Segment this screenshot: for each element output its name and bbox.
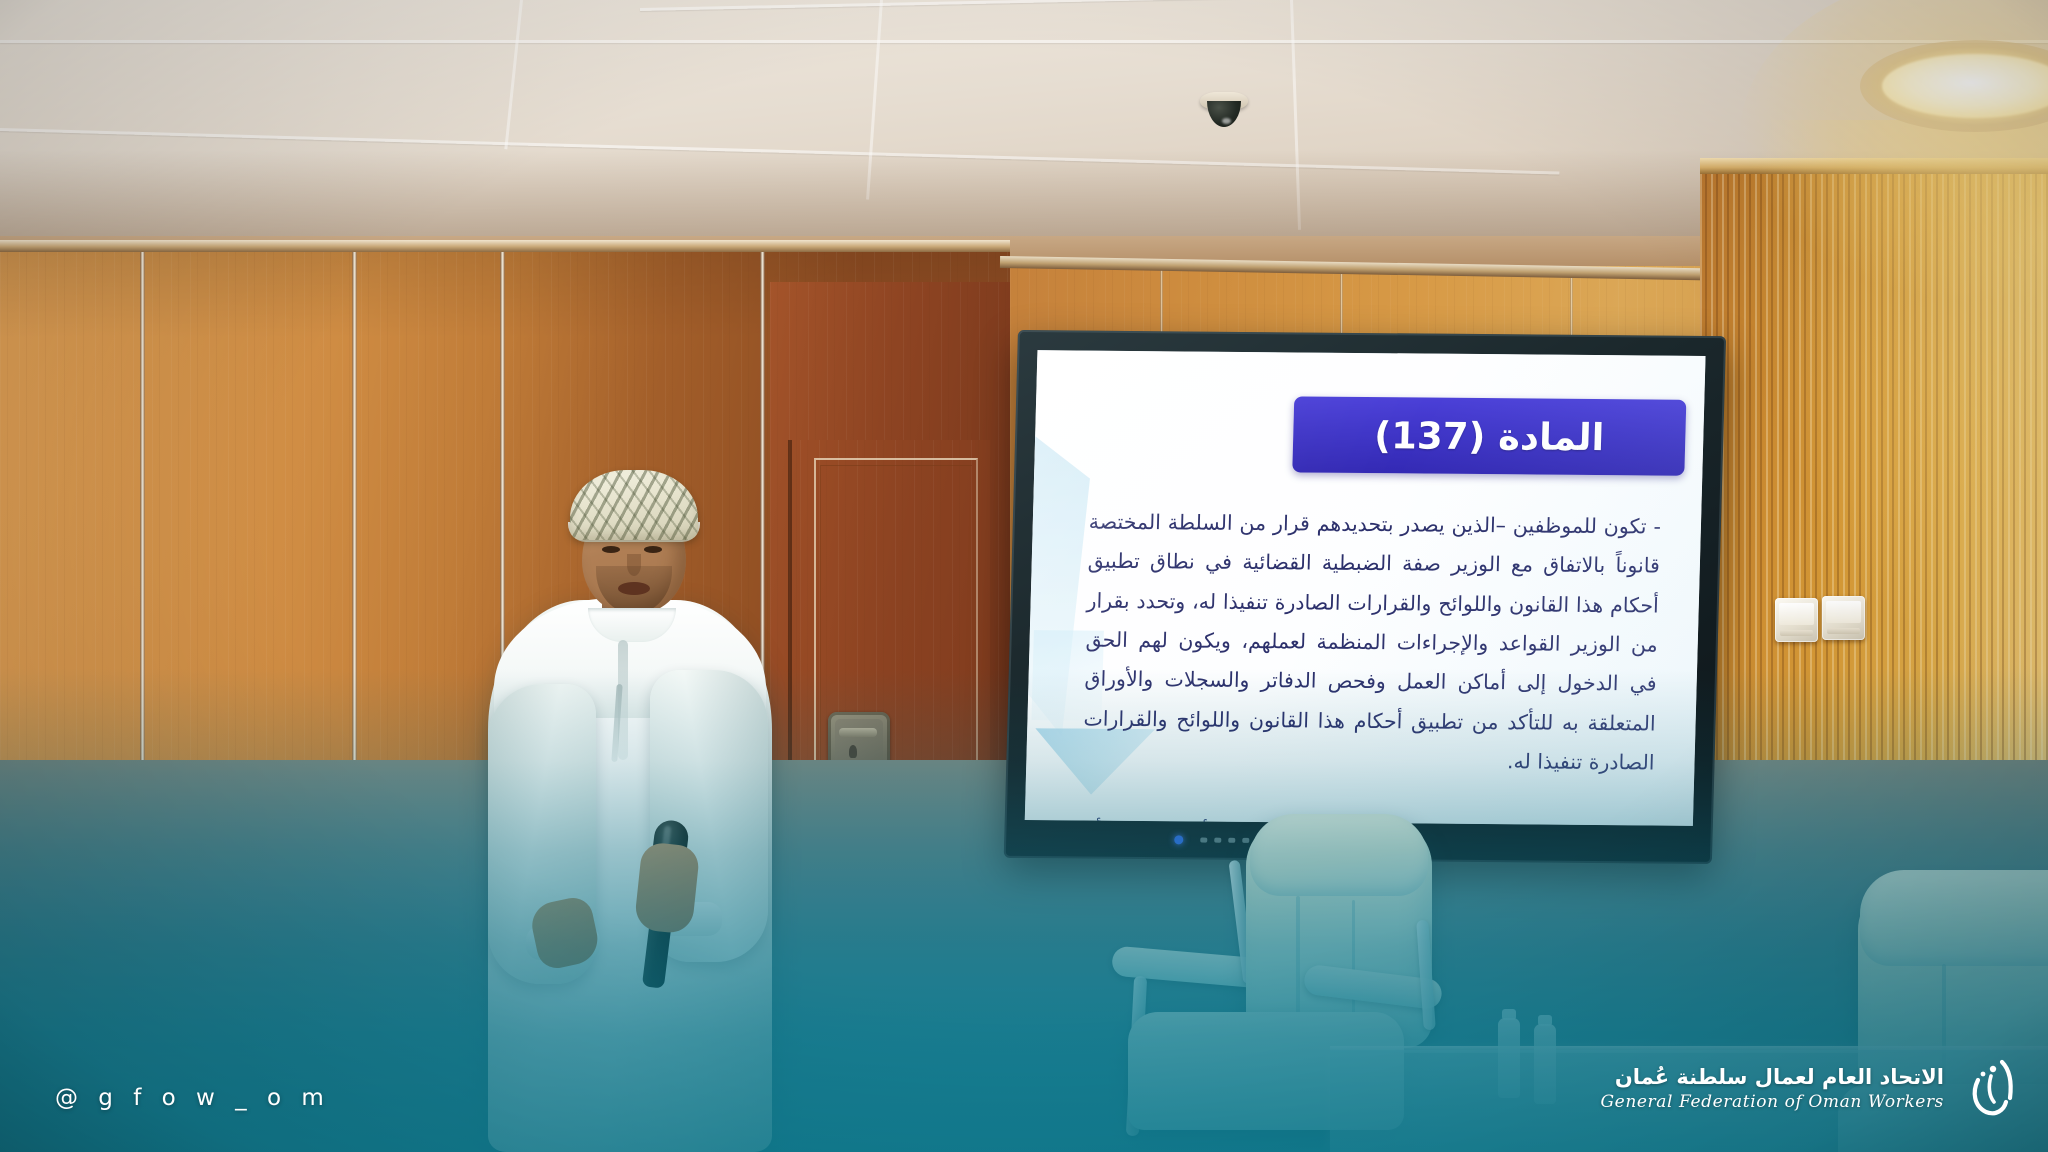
brand-lockup: الاتحاد العام لعمال سلطنة عُمان General … (1600, 1058, 2016, 1120)
presentation-photo-scene: المادة (137) - تكون للموظفين –الذين يصدر… (0, 0, 2048, 1152)
brand-arabic-name: الاتحاد العام لعمال سلطنة عُمان (1615, 1067, 1944, 1088)
slide-title: المادة (137) (1374, 417, 1605, 456)
light-switch-right[interactable] (1822, 596, 1865, 640)
recessed-ceiling-light-icon (1860, 40, 2048, 132)
brand-english-name: General Federation of Oman Workers (1600, 1094, 1944, 1111)
wall-top-trim (1700, 158, 2048, 174)
wall-mounted-display-icon[interactable]: المادة (137) - تكون للموظفين –الذين يصدر… (1004, 330, 1726, 864)
water-bottle-1 (1498, 1018, 1520, 1098)
omani-kumma-cap-icon (570, 470, 698, 540)
presentation-slide: المادة (137) - تكون للموظفين –الذين يصدر… (1025, 350, 1706, 826)
light-switch-left[interactable] (1775, 598, 1818, 642)
gfow-monogram-icon (1958, 1058, 2016, 1120)
slide-paragraph-1: - تكون للموظفين –الذين يصدر بتحديدهم قرا… (1082, 503, 1662, 783)
slide-body: - تكون للموظفين –الذين يصدر بتحديدهم قرا… (1078, 503, 1662, 826)
display-screen: المادة (137) - تكون للموظفين –الذين يصدر… (1025, 350, 1706, 826)
presenter (470, 448, 790, 1152)
presenter-right-hand (634, 841, 701, 935)
partition-track-rail (0, 240, 1010, 252)
water-bottle-2 (1534, 1024, 1556, 1104)
dome-security-camera-icon (1200, 92, 1248, 132)
social-handle: @ g f o w _ o m (55, 1085, 330, 1111)
slide-title-bar: المادة (137) (1292, 396, 1686, 475)
